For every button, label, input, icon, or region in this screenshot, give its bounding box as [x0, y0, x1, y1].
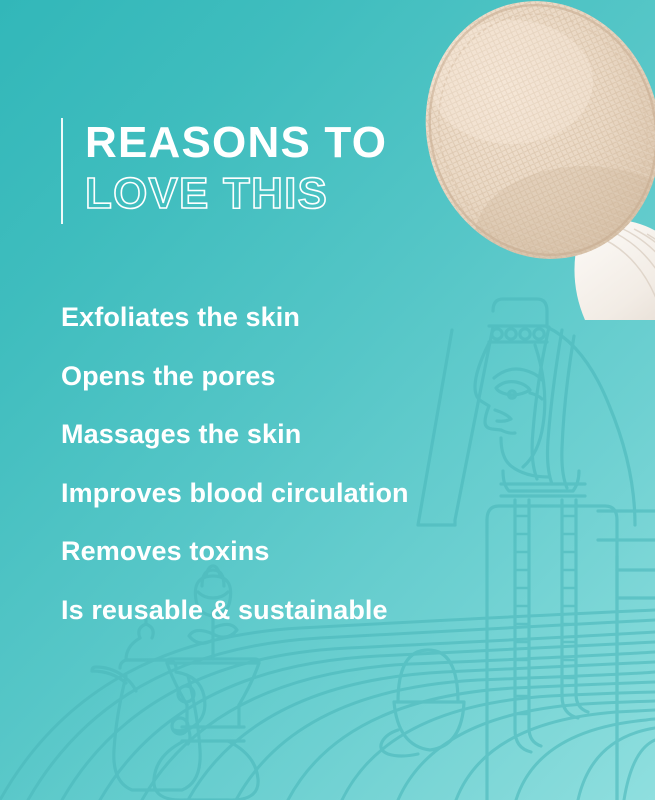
mitt-cuff — [574, 219, 655, 320]
mitt-body — [415, 0, 655, 320]
egyptian-queen-illustration — [418, 299, 655, 800]
arabic-coffee-pot-illustration — [92, 614, 205, 790]
heading-line-one: REASONS TO — [85, 118, 387, 168]
poster-canvas: REASONS TO LOVE THIS Exfoliates the skin… — [0, 0, 655, 800]
benefits-list: Exfoliates the skin Opens the pores Mass… — [61, 288, 409, 639]
heading-line-two: LOVE THIS — [85, 168, 387, 220]
list-item: Exfoliates the skin — [61, 288, 409, 347]
list-item: Removes toxins — [61, 522, 409, 581]
list-item: Is reusable & sustainable — [61, 581, 409, 640]
list-item: Opens the pores — [61, 347, 409, 406]
heading-block: REASONS TO LOVE THIS — [61, 118, 387, 224]
list-item: Improves blood circulation — [61, 464, 409, 523]
exfoliating-mitt-product-image — [415, 0, 655, 320]
bowl-illustration — [381, 650, 464, 756]
list-item: Massages the skin — [61, 405, 409, 464]
